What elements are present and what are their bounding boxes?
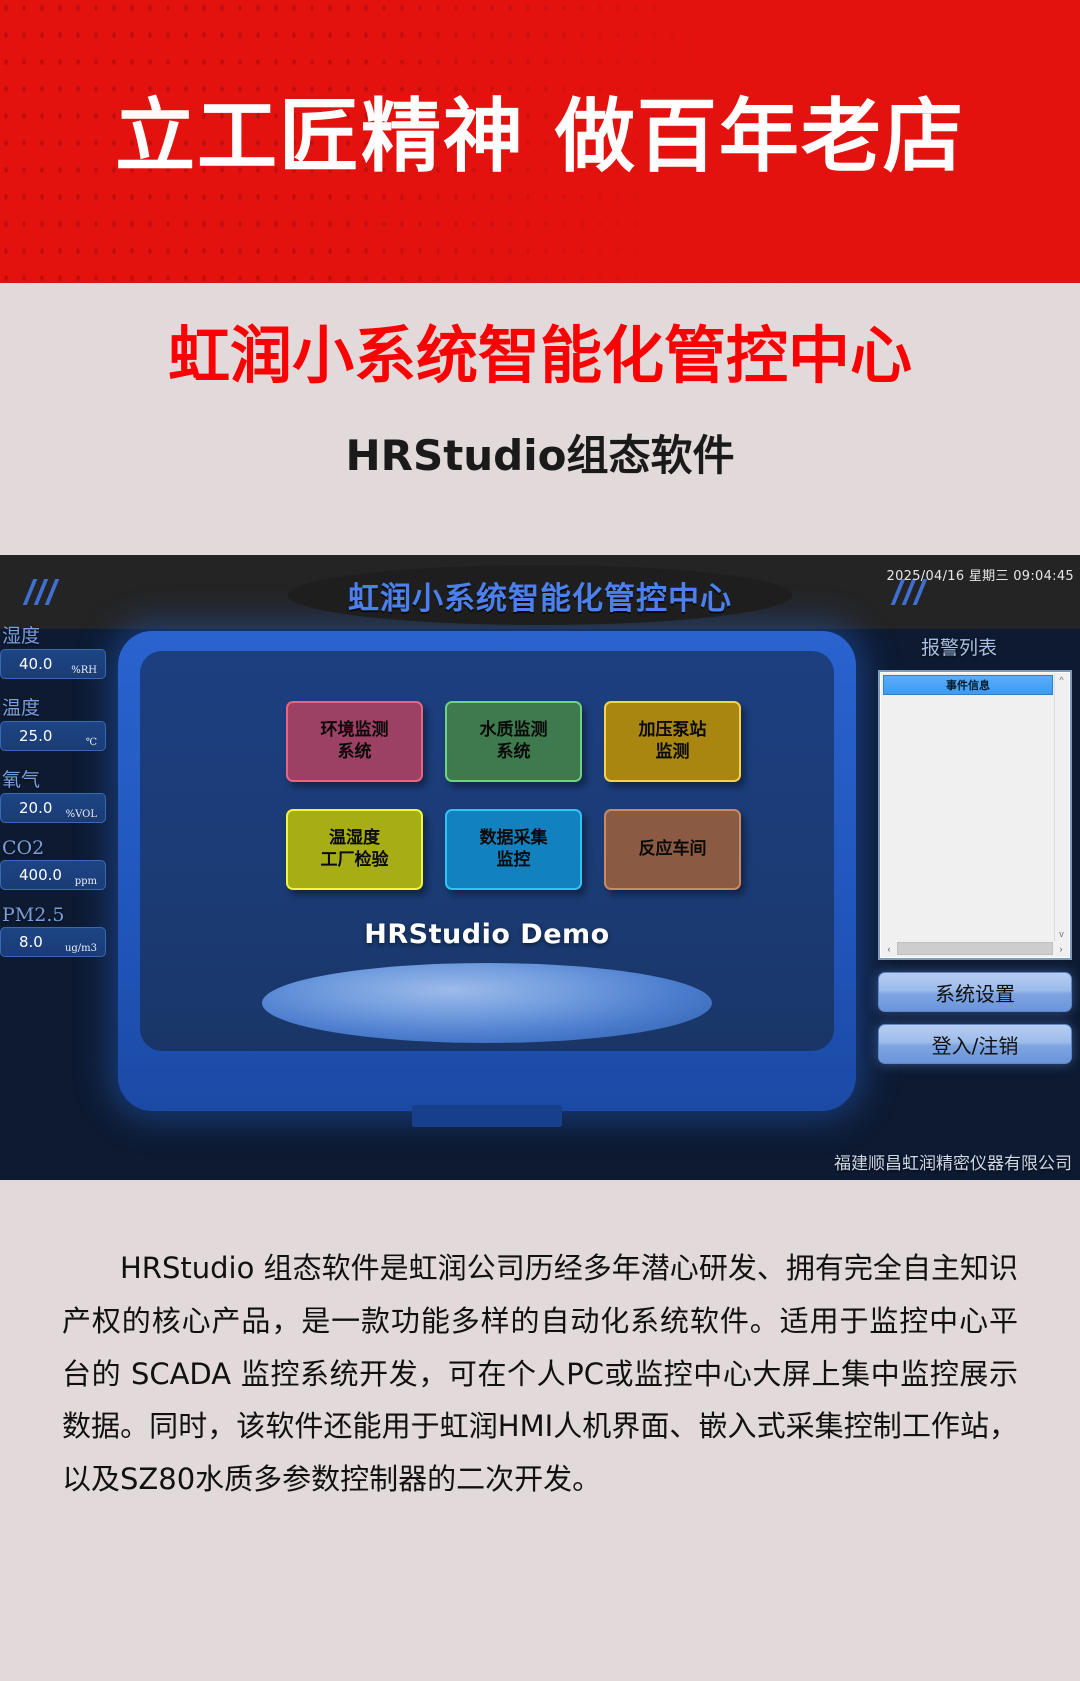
nav-button-line1: 数据采集 xyxy=(480,828,548,849)
sensor-readout-pm25[interactable]: 8.0 ug/m3 xyxy=(0,927,106,957)
datetime-display: 2025/04/16 星期三 09:04:45 xyxy=(887,565,1074,584)
nav-button-environment-monitoring[interactable]: 环境监测 系统 xyxy=(286,701,423,782)
sensor-label-humidity: 湿度 xyxy=(0,617,112,649)
nav-button-grid: 环境监测 系统 水质监测 系统 加压泵站 监测 xyxy=(286,701,741,890)
right-panel: 报警列表 事件信息 ^ v ‹ › 系统设置 登入/注销 xyxy=(856,633,1080,1064)
sensor-unit-temperature: ℃ xyxy=(86,737,97,748)
alarm-column-header: 事件信息 xyxy=(883,675,1053,695)
nav-button-reaction-workshop[interactable]: 反应车间 xyxy=(604,809,741,890)
title-block: 虹润小系统智能化管控中心 HRStudio组态软件 xyxy=(0,283,1080,555)
sensor-readout-oxygen[interactable]: 20.0 %VOL xyxy=(0,793,106,823)
sensor-value-co2: 400.0 xyxy=(19,866,62,884)
demo-label: HRStudio Demo xyxy=(140,919,834,950)
sensor-value-pm25: 8.0 xyxy=(19,933,43,951)
scroll-thumb[interactable] xyxy=(897,942,1053,955)
alarm-vertical-scrollbar[interactable]: ^ v xyxy=(1054,674,1068,941)
banner-slogan: 立工匠精神 做百年老店 xyxy=(0,97,1080,177)
monitor-stand xyxy=(412,1105,562,1127)
nav-button-line1: 温湿度 xyxy=(321,828,389,849)
nav-button-line1: 环境监测 xyxy=(321,720,389,741)
sensor-label-co2: CO2 xyxy=(0,833,112,860)
sensor-value-temperature: 25.0 xyxy=(19,727,52,745)
nav-button-line2: 系统 xyxy=(321,742,389,763)
monitor-screen: 环境监测 系统 水质监测 系统 加压泵站 监测 xyxy=(140,651,834,1051)
scroll-up-icon[interactable]: ^ xyxy=(1055,674,1068,687)
sensor-readout-co2[interactable]: 400.0 ppm xyxy=(0,860,106,890)
sensor-label-oxygen: 氧气 xyxy=(0,761,112,793)
sensor-panel: 湿度 40.0 %RH 温度 25.0 ℃ 氧气 20.0 %VOL CO2 4… xyxy=(0,617,112,967)
hmi-title-plate: 虹润小系统智能化管控中心 xyxy=(288,565,793,625)
description-section: HRStudio 组态软件是虹润公司历经多年潜心研发、拥有完全自主知识产权的核心… xyxy=(0,1180,1080,1681)
nav-button-line1: 加压泵站 xyxy=(639,720,707,741)
decor-ellipse xyxy=(262,963,712,1043)
scroll-right-icon[interactable]: › xyxy=(1054,944,1068,954)
nav-button-line2: 监控 xyxy=(480,850,548,871)
nav-button-line1: 水质监测 xyxy=(480,720,548,741)
alarm-list-title: 报警列表 xyxy=(856,633,1080,660)
alarm-list[interactable]: 事件信息 ^ v ‹ › xyxy=(878,670,1072,960)
nav-button-line2: 系统 xyxy=(480,742,548,763)
nav-button-data-acquisition-monitoring[interactable]: 数据采集 监控 xyxy=(445,809,582,890)
sensor-unit-pm25: ug/m3 xyxy=(65,943,97,954)
sensor-label-pm25: PM2.5 xyxy=(0,900,112,927)
nav-button-temperature-humidity-factory-inspection[interactable]: 温湿度 工厂检验 xyxy=(286,809,423,890)
monitor-frame: 环境监测 系统 水质监测 系统 加压泵站 监测 xyxy=(118,631,856,1111)
sensor-value-humidity: 40.0 xyxy=(19,655,52,673)
nav-button-water-quality-monitoring[interactable]: 水质监测 系统 xyxy=(445,701,582,782)
decor-slash-left-icon xyxy=(28,579,72,605)
sensor-readout-temperature[interactable]: 25.0 ℃ xyxy=(0,721,106,751)
nav-button-pump-station-monitoring[interactable]: 加压泵站 监测 xyxy=(604,701,741,782)
company-name: 福建顺昌虹润精密仪器有限公司 xyxy=(834,1149,1072,1174)
login-logout-button[interactable]: 登入/注销 xyxy=(878,1024,1072,1064)
sensor-unit-oxygen: %VOL xyxy=(66,809,97,820)
scroll-left-icon[interactable]: ‹ xyxy=(882,944,896,954)
system-settings-button[interactable]: 系统设置 xyxy=(878,972,1072,1012)
sensor-label-temperature: 温度 xyxy=(0,689,112,721)
sensor-readout-humidity[interactable]: 40.0 %RH xyxy=(0,649,106,679)
sensor-unit-humidity: %RH xyxy=(71,665,97,676)
page-subtitle: HRStudio组态软件 xyxy=(0,435,1080,477)
alarm-horizontal-scrollbar[interactable]: ‹ › xyxy=(882,941,1068,956)
page-title: 虹润小系统智能化管控中心 xyxy=(0,325,1080,387)
red-banner: 立工匠精神 做百年老店 xyxy=(0,0,1080,283)
sensor-unit-co2: ppm xyxy=(75,876,97,887)
nav-button-line1: 反应车间 xyxy=(639,839,707,860)
hmi-header-title: 虹润小系统智能化管控中心 xyxy=(348,573,732,618)
description-paragraph: HRStudio 组态软件是虹润公司历经多年潜心研发、拥有完全自主知识产权的核心… xyxy=(62,1242,1018,1506)
hmi-screenshot: 虹润小系统智能化管控中心 2025/04/16 星期三 09:04:45 湿度 … xyxy=(0,555,1080,1180)
nav-button-line2: 工厂检验 xyxy=(321,850,389,871)
scroll-down-icon[interactable]: v xyxy=(1055,928,1068,941)
nav-button-line2: 监测 xyxy=(639,742,707,763)
sensor-value-oxygen: 20.0 xyxy=(19,799,52,817)
